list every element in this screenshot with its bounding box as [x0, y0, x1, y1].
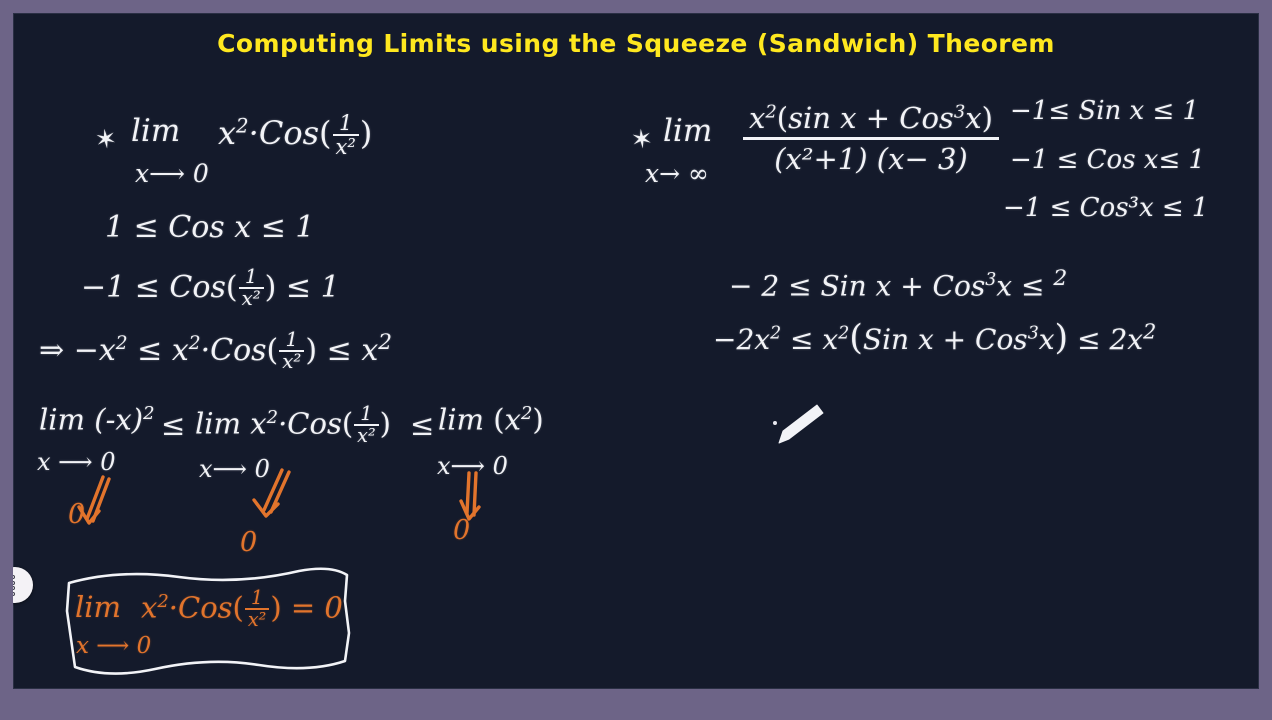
left-step4-b: lim x2·Cos(1x²) — [195, 405, 391, 446]
left-step3-mid-base: x — [172, 333, 189, 368]
right-num-sup: 2 — [765, 101, 776, 122]
left-step3-mid-sup: 2 — [189, 333, 201, 354]
left-step4-le2: ≤ — [410, 411, 434, 440]
right-num-cos-sup: 3 — [954, 101, 965, 122]
right-num-close: ) — [982, 101, 993, 135]
left-step4-b-rest: ·Cos — [278, 407, 342, 441]
left-step3-mid-rest: ·Cos — [201, 333, 267, 368]
stylus-pen-cursor[interactable] — [773, 401, 837, 449]
right-derived2-base: x — [822, 323, 838, 356]
left-step4-b-fraction: 1x² — [354, 404, 378, 445]
right-num-open: ( — [777, 101, 788, 135]
left-step2: −1 ≤ Cos(1x²) ≤ 1 — [81, 268, 340, 310]
right-derived1-lhs: − 2 ≤ Sin x + Cos — [729, 269, 985, 302]
left-step3-le1: ≤ — [137, 333, 162, 368]
right-bound-2: −1 ≤ Cos x≤ 1 — [1010, 147, 1205, 173]
left-step4-b-frac-num: 1 — [354, 404, 378, 424]
right-bound-1: −1≤ Sin x ≤ 1 — [1010, 98, 1199, 124]
answer-rest: ·Cos — [169, 591, 233, 625]
left-step4-le1: ≤ — [161, 411, 185, 440]
left-step4-a-sub: x ⟶ 0 — [37, 450, 115, 474]
answer-base: x — [141, 591, 157, 625]
answer-frac-num: 1 — [245, 588, 269, 608]
left-problem-lim: lim — [131, 116, 180, 147]
left-step3-lhs-sup: 2 — [116, 333, 128, 354]
right-num-var: x — [965, 101, 981, 135]
left-problem-expr-base: x — [218, 114, 236, 152]
grip-dots-icon — [13, 574, 21, 596]
left-step4-a-lim: lim — [39, 403, 85, 437]
right-problem-denominator: (x²+1) (x− 3) — [743, 137, 999, 176]
right-derived2-rhs: 2x — [1109, 323, 1143, 356]
left-step3-frac-den: x² — [279, 350, 304, 372]
left-step2-lhs: −1 ≤ Cos — [81, 270, 226, 305]
right-bound-3: −1 ≤ Cos³x ≤ 1 — [1003, 195, 1208, 221]
left-step3-fraction: 1x² — [279, 330, 304, 372]
answer-sup: 2 — [157, 591, 168, 612]
right-num-sin: sin x + Cos — [788, 101, 954, 135]
orange-zero-2: 0 — [240, 529, 257, 556]
left-step2-frac-den: x² — [239, 287, 264, 309]
left-step4-c-sup: 2 — [521, 403, 532, 424]
left-step4-c-lim: lim — [438, 403, 484, 437]
left-step4-b-lim: lim — [195, 407, 241, 441]
right-derived2-le1: ≤ — [790, 323, 813, 356]
left-problem-expr-rest: ·Cos — [249, 114, 319, 152]
left-problem-frac-num: 1 — [333, 112, 359, 134]
left-step1: 1 ≤ Cos x ≤ 1 — [105, 213, 314, 243]
left-step4-a-sup: 2 — [143, 403, 154, 424]
left-step4-b-base: x — [250, 407, 266, 441]
orange-arrow-2 — [246, 468, 302, 528]
right-derived2-le2: ≤ — [1077, 323, 1100, 356]
right-derived2-lhs: −2x — [713, 323, 770, 356]
page-title: Computing Limits using the Squeeze (Sand… — [13, 29, 1259, 58]
left-step3-rhs-sup: 2 — [378, 330, 392, 355]
right-derived2-inner-sup: 3 — [1028, 324, 1039, 344]
whiteboard-canvas[interactable]: Computing Limits using the Squeeze (Sand… — [13, 13, 1259, 689]
left-step3: ⇒ −x2 ≤ x2·Cos(1x²) ≤ x2 — [39, 331, 392, 373]
right-derived-2: −2x2 ≤ x2(Sin x + Cos3x) ≤ 2x2 — [713, 321, 1156, 356]
left-step2-fraction: 1x² — [239, 267, 264, 309]
left-step4-a: lim (-x)2 — [39, 405, 155, 435]
left-problem-fraction: 1x² — [333, 112, 359, 157]
answer-lim-sub: x ⟶ 0 — [76, 635, 151, 658]
left-step4-a-expr: (-x) — [94, 403, 143, 437]
left-step3-frac-num: 1 — [279, 330, 304, 350]
left-step3-rhs-base: x — [361, 333, 378, 368]
right-derived1-var: x — [996, 269, 1012, 302]
answer-lim: lim — [75, 593, 121, 622]
right-problem-numerator: x2(sin x + Cos3x) — [743, 101, 999, 137]
left-step2-frac-num: 1 — [239, 267, 264, 287]
right-derived2-open: ( — [849, 318, 863, 358]
right-derived1-sup: 3 — [985, 270, 996, 290]
left-step2-rhs: ≤ 1 — [286, 270, 340, 305]
answer-fraction: 1x² — [245, 588, 269, 629]
left-step4-c-close: ) — [532, 403, 543, 437]
right-num-base: x — [749, 101, 765, 135]
left-step4-b-sup: 2 — [267, 407, 278, 428]
pen-grip-button[interactable] — [13, 567, 33, 603]
left-step4-c: lim (x2) — [438, 405, 544, 435]
left-problem-frac-den: x² — [333, 134, 359, 158]
right-derived2-close: ) — [1055, 318, 1069, 358]
answer-expression: x2·Cos(1x²) = 0 — [141, 589, 343, 630]
right-derived-1: − 2 ≤ Sin x + Cos3x ≤ 2 — [729, 268, 1067, 300]
bullet-star-left: ✶ — [93, 124, 119, 157]
left-problem-expr: x2·Cos(1x²) — [218, 113, 372, 158]
right-derived2-rhs-sup: 2 — [1143, 320, 1156, 344]
left-step4-c-open: ( — [493, 403, 504, 437]
answer-equals: = 0 — [291, 591, 343, 625]
right-derived1-rhs: 2 — [1053, 266, 1067, 291]
right-derived2-inner: Sin x + Cos — [863, 323, 1028, 356]
left-step4-b-frac-den: x² — [354, 424, 378, 446]
right-problem-lim-sub: x→ ∞ — [645, 161, 709, 186]
right-derived2-inner-var: x — [1039, 323, 1055, 356]
orange-zero-3: 0 — [453, 517, 470, 544]
screen-frame: Computing Limits using the Squeeze (Sand… — [0, 0, 1272, 720]
left-step4-c-base: x — [505, 403, 521, 437]
left-problem-lim-sub: x⟶ 0 — [135, 161, 209, 186]
right-problem-fraction: x2(sin x + Cos3x) (x²+1) (x− 3) — [743, 101, 999, 176]
orange-zero-1: 0 — [68, 501, 85, 528]
left-problem-expr-sup: 2 — [236, 114, 249, 137]
right-problem-lim: lim — [663, 116, 712, 147]
right-derived2-lhs-sup: 2 — [770, 324, 781, 344]
left-step3-implies: ⇒ — [39, 333, 64, 368]
right-derived1-le: ≤ — [1021, 269, 1044, 302]
bullet-star-right: ✶ — [629, 124, 654, 156]
answer-frac-den: x² — [245, 608, 269, 630]
right-derived2-base-sup: 2 — [838, 324, 849, 344]
left-step3-lhs: −x — [74, 333, 116, 368]
left-step3-le2: ≤ — [327, 333, 352, 368]
